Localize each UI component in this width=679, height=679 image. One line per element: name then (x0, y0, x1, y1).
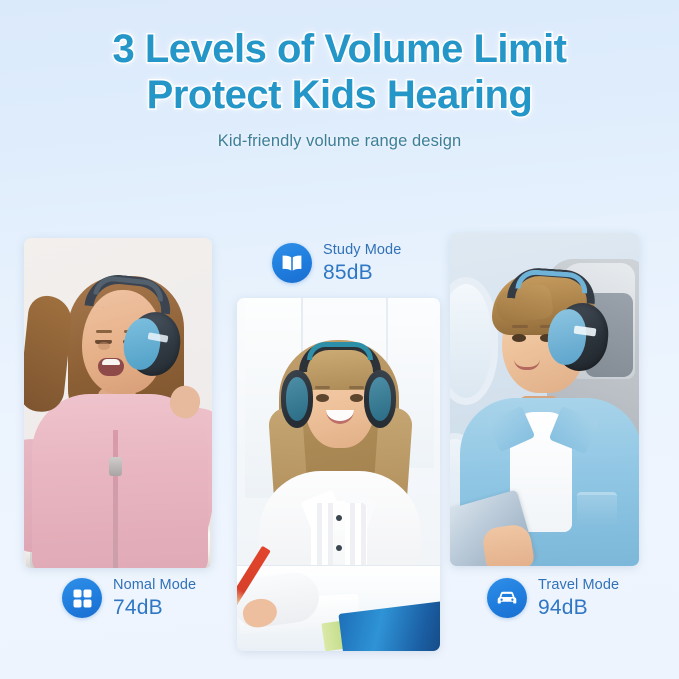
eye-right (350, 394, 363, 402)
marketing-banner: 3 Levels of Volume Limit Protect Kids He… (0, 0, 679, 679)
eye-left (512, 334, 526, 342)
badge-title: Travel Mode (538, 578, 619, 593)
grid-squares-icon (62, 578, 102, 618)
badge-normal-mode: Nomal Mode 74dB (62, 578, 196, 618)
badge-value: 85dB (323, 262, 401, 283)
headband-cushion (307, 342, 373, 360)
eye-left (316, 394, 329, 402)
subtitle: Kid-friendly volume range design (0, 132, 679, 151)
eyebrow-right (349, 386, 364, 389)
page-title: 3 Levels of Volume Limit Protect Kids He… (0, 26, 679, 118)
badge-study-mode: Study Mode 85dB (272, 243, 401, 283)
hoodie-zipper (113, 430, 118, 568)
pink-hoodie (32, 394, 208, 568)
open-book-icon (272, 243, 312, 283)
badge-travel-mode: Travel Mode 94dB (487, 578, 619, 618)
blouse-button (336, 545, 342, 551)
car-front-icon (487, 578, 527, 618)
eyebrow-left (315, 386, 330, 389)
headline-line-2: Protect Kids Hearing (0, 72, 679, 118)
badge-text: Travel Mode 94dB (538, 578, 619, 618)
open-mouth (98, 358, 124, 376)
badge-title: Nomal Mode (113, 578, 196, 593)
photo-scene-study (237, 298, 440, 651)
header: 3 Levels of Volume Limit Protect Kids He… (0, 26, 679, 151)
eyebrow-left (96, 330, 112, 333)
headphone-earcup-left (281, 370, 313, 428)
badge-text: Nomal Mode 74dB (113, 578, 196, 618)
photo-scene-travel (450, 233, 639, 566)
headphone-earcup-right (364, 370, 396, 428)
badge-value: 74dB (113, 597, 196, 618)
shirt-pocket (577, 492, 617, 526)
nose (98, 342, 110, 350)
badge-text: Study Mode 85dB (323, 243, 401, 283)
eyebrow-left (512, 325, 528, 328)
photo-scene-normal (24, 238, 212, 568)
badge-title: Study Mode (323, 243, 401, 258)
headline-line-1: 3 Levels of Volume Limit (112, 27, 566, 71)
badge-value: 94dB (538, 597, 619, 618)
normal-mode-photo (24, 238, 212, 568)
study-mode-photo (237, 298, 440, 651)
zipper-pull (109, 457, 122, 476)
blouse-button (336, 515, 342, 521)
travel-mode-photo (450, 233, 639, 566)
